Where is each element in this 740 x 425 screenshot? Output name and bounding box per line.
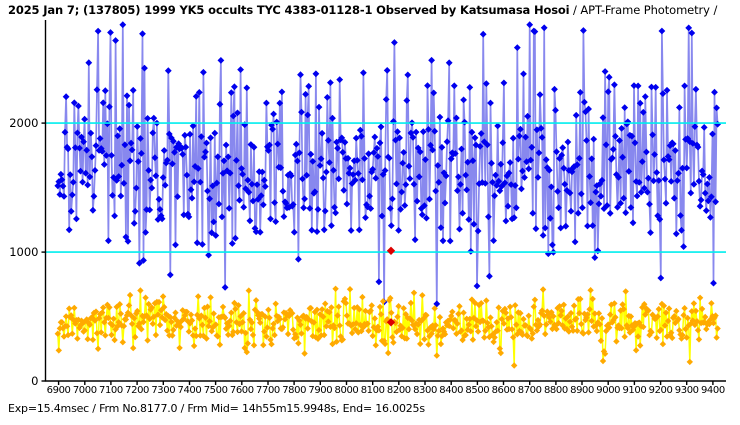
chart-svg [0,0,740,425]
y-axis-tick-label: 0 [0,375,39,387]
y-axis-tick-label: 1000 [0,246,39,258]
target-event-point [387,247,395,255]
footer-caption: Exp=15.4msec / Frm No.8177.0 / Frm Mid= … [8,402,425,416]
chart-canvas: 200010000 690070007100720073007400750076… [0,0,740,425]
photometry-plot-page: 2025 Jan 7; (137805) 1999 YK5 occults TY… [0,0,740,425]
target-series-line [58,25,718,304]
data-series-layer [54,21,721,368]
y-axis-tick-label: 2000 [0,117,39,129]
x-axis-tick-label: 9400 [696,385,730,397]
